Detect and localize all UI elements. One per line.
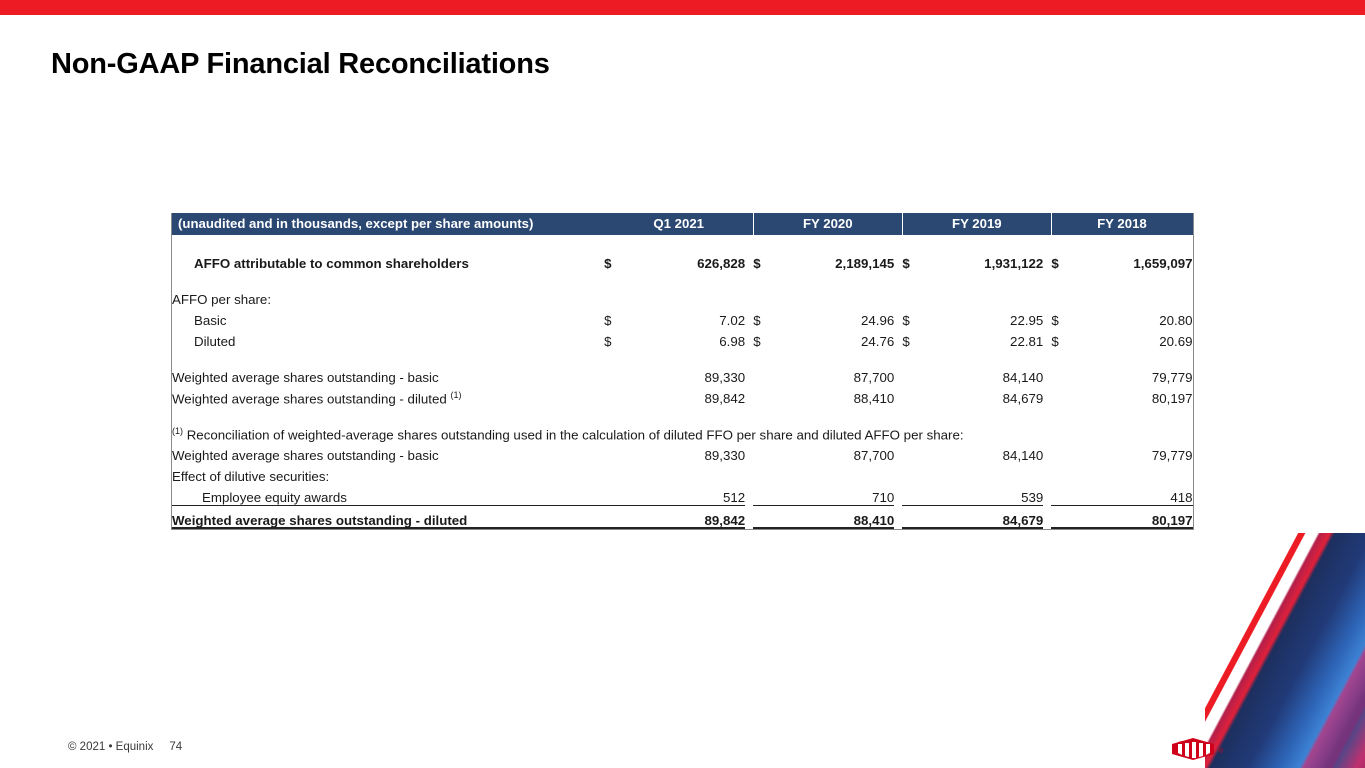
currency-affo-fy2020: $ [753,250,785,271]
value-equity-awards-fy2020: 710 [785,484,894,506]
datacenter-photo-wedge [1205,533,1365,768]
footnote-body: Reconciliation of weighted-average share… [187,427,964,442]
value-basic-fy2018: 20.80 [1084,307,1193,328]
financial-table-container: (unaudited and in thousands, except per … [171,213,1194,530]
value-wavg-basic-q1-2021: 89,330 [636,364,745,385]
table-row-wavg-basic: Weighted average shares outstanding - ba… [172,364,1193,385]
value-recon-basic-q1-2021: 89,330 [636,442,745,463]
corner-decoration-artwork [1205,533,1365,768]
value-recon-basic-fy2018: 79,779 [1084,442,1193,463]
row-label-affo: AFFO attributable to common shareholders [172,250,604,271]
table-row-affo: AFFO attributable to common shareholders… [172,250,1193,271]
table-row-wavg-diluted: Weighted average shares outstanding - di… [172,385,1193,406]
copyright-text: © 2021 • Equinix [68,741,153,753]
currency-basic-fy2018: $ [1051,307,1083,328]
equinix-logo-icon [1170,738,1216,760]
value-diluted-fy2020: 24.76 [785,328,894,349]
header-cell-fy-2018: FY 2018 [1051,213,1192,235]
footnote-marker: (1) [450,390,461,400]
slide-footer: © 2021 • Equinix74 [68,741,182,753]
value-affo-q1-2021: 626,828 [636,250,745,271]
value-equity-awards-fy2019: 539 [935,484,1044,506]
table-row-diluted: Diluted $ 6.98 $ 24.76 $ 22.81 $ 20.69 [172,328,1193,349]
equinix-logo: ® [1170,738,1222,760]
value-diluted-fy2019: 22.81 [935,328,1044,349]
currency-affo-fy2018: $ [1051,250,1083,271]
row-label-total-diluted: Weighted average shares outstanding - di… [172,506,604,529]
currency-diluted-fy2020: $ [753,328,785,349]
table-header-row: (unaudited and in thousands, except per … [172,213,1193,235]
value-recon-basic-fy2020: 87,700 [785,442,894,463]
value-diluted-fy2018: 20.69 [1084,328,1193,349]
currency-diluted-fy2018: $ [1051,328,1083,349]
spacer-row [172,406,1193,421]
header-cell-fy-2019: FY 2019 [902,213,1051,235]
value-total-q1-2021: 89,842 [636,506,745,529]
non-gaap-reconciliation-table: (unaudited and in thousands, except per … [172,213,1193,529]
header-cell-q1-2021: Q1 2021 [604,213,753,235]
row-label-employee-equity-awards: Employee equity awards [172,484,604,506]
table-row-footnote: (1) Reconciliation of weighted-average s… [172,421,1193,442]
value-total-fy2020: 88,410 [785,506,894,529]
currency-basic-q1: $ [604,307,636,328]
value-diluted-q1-2021: 6.98 [636,328,745,349]
value-wavg-diluted-fy2019: 84,679 [935,385,1044,406]
value-affo-fy2020: 2,189,145 [785,250,894,271]
magenta-diagonal-band [1205,533,1365,768]
value-affo-fy2018: 1,659,097 [1084,250,1193,271]
currency-diluted-q1: $ [604,328,636,349]
row-label-recon-basic: Weighted average shares outstanding - ba… [172,442,604,463]
value-wavg-basic-fy2018: 79,779 [1084,364,1193,385]
red-diagonal-stripe [1205,533,1365,768]
table-row-employee-equity-awards: Employee equity awards 512 710 539 418 [172,484,1193,506]
currency-affo-fy2019: $ [902,250,934,271]
currency-affo-q1: $ [604,250,636,271]
value-wavg-diluted-fy2018: 80,197 [1084,385,1193,406]
currency-diluted-fy2019: $ [902,328,934,349]
header-cell-fy-2020: FY 2020 [753,213,902,235]
value-total-fy2019: 84,679 [935,506,1044,529]
table-row-total-diluted: Weighted average shares outstanding - di… [172,506,1193,529]
spacer-row [172,349,1193,364]
page-title: Non-GAAP Financial Reconciliations [51,48,550,81]
value-equity-awards-fy2018: 418 [1084,484,1193,506]
row-label-diluted: Diluted [172,328,604,349]
value-equity-awards-q1-2021: 512 [636,484,745,506]
table-row-affo-per-share-header: AFFO per share: [172,286,1193,307]
row-label-dilutive-securities: Effect of dilutive securities: [172,463,604,484]
table-row-basic: Basic $ 7.02 $ 24.96 $ 22.95 $ 20.80 [172,307,1193,328]
currency-basic-fy2020: $ [753,307,785,328]
header-cell-label: (unaudited and in thousands, except per … [172,213,604,235]
row-label-basic: Basic [172,307,604,328]
spacer-row [172,235,1193,250]
row-label-wavg-diluted-text: Weighted average shares outstanding - di… [172,391,447,406]
row-label-affo-per-share: AFFO per share: [172,286,604,307]
value-basic-q1-2021: 7.02 [636,307,745,328]
value-wavg-diluted-q1-2021: 89,842 [636,385,745,406]
row-label-wavg-basic: Weighted average shares outstanding - ba… [172,364,604,385]
value-basic-fy2019: 22.95 [935,307,1044,328]
value-wavg-diluted-fy2020: 88,410 [785,385,894,406]
table-row-dilutive-securities: Effect of dilutive securities: [172,463,1193,484]
footnote-marker-lead: (1) [172,426,183,436]
currency-basic-fy2019: $ [902,307,934,328]
value-recon-basic-fy2019: 84,140 [935,442,1044,463]
value-affo-fy2019: 1,931,122 [935,250,1044,271]
registered-trademark-mark: ® [1218,748,1223,755]
value-wavg-basic-fy2019: 84,140 [935,364,1044,385]
spacer-row [172,271,1193,286]
value-wavg-basic-fy2020: 87,700 [785,364,894,385]
row-label-wavg-diluted: Weighted average shares outstanding - di… [172,385,604,406]
value-basic-fy2020: 24.96 [785,307,894,328]
footnote-text-cell: (1) Reconciliation of weighted-average s… [172,421,1193,442]
value-total-fy2018: 80,197 [1084,506,1193,529]
top-red-bar [0,0,1365,15]
table-row-recon-basic: Weighted average shares outstanding - ba… [172,442,1193,463]
page-number: 74 [169,741,182,753]
